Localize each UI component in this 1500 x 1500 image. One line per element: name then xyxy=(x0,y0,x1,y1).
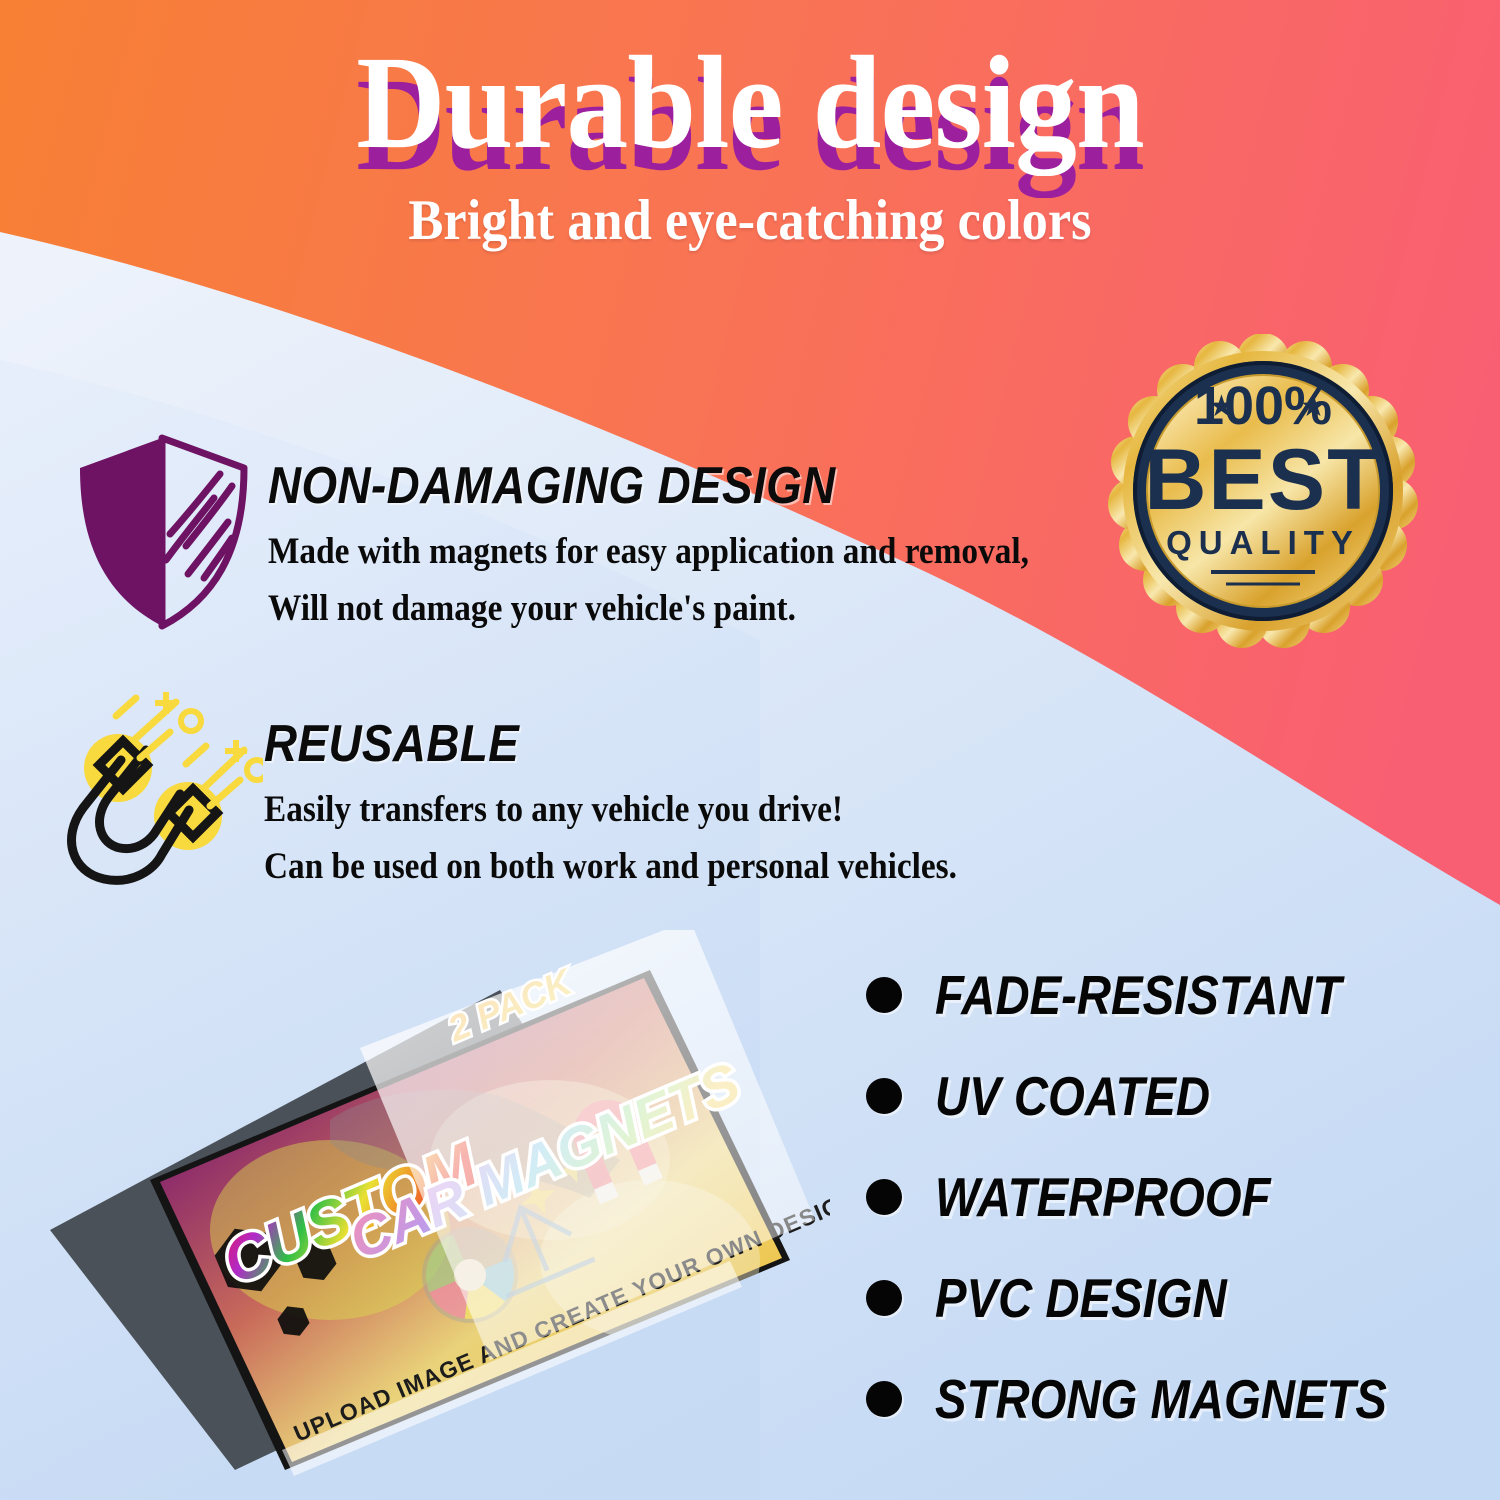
header: Durable design Durable design Bright and… xyxy=(0,0,1500,300)
feature-reusable: REUSABLE Easily transfers to any vehicle… xyxy=(58,686,1034,891)
list-item: PVC DESIGN xyxy=(866,1247,1461,1348)
bullet-dot-icon xyxy=(866,1078,902,1114)
badge-star-right: ★ xyxy=(1300,390,1327,423)
bullet-label: STRONG MAGNETS xyxy=(935,1367,1387,1431)
feature-line: Will not damage your vehicle's paint. xyxy=(268,587,1029,630)
feature-title: NON-DAMAGING DESIGN xyxy=(268,456,1012,516)
bullet-label: PVC DESIGN xyxy=(935,1266,1227,1330)
feature-bullet-list: FADE-RESISTANT UV COATED WATERPROOF PVC … xyxy=(866,944,1461,1449)
shield-icon xyxy=(62,428,268,643)
bullet-label: UV COATED xyxy=(935,1064,1210,1128)
feature-line: Made with magnets for easy application a… xyxy=(268,530,1029,573)
list-item: STRONG MAGNETS xyxy=(866,1348,1461,1449)
best-quality-badge: ★ 100% ★ BEST QUALITY xyxy=(1098,334,1428,664)
page-title-text: Durable design xyxy=(53,36,1448,169)
bullet-dot-icon xyxy=(866,1179,902,1215)
badge-headline: BEST xyxy=(1144,432,1381,528)
badge-subline: QUALITY xyxy=(1166,524,1360,561)
bullet-label: WATERPROOF xyxy=(935,1165,1270,1229)
feature-line: Easily transfers to any vehicle you driv… xyxy=(264,788,957,831)
feature-text: NON-DAMAGING DESIGN Made with magnets fo… xyxy=(268,428,1114,630)
product-photo: CUSTOM CAR MAGNETS 2 PACK UPLOAD IMAGE A… xyxy=(30,930,830,1490)
list-item: FADE-RESISTANT xyxy=(866,944,1461,1045)
list-item: WATERPROOF xyxy=(866,1146,1461,1247)
list-item: UV COATED xyxy=(866,1045,1461,1146)
bullet-dot-icon xyxy=(866,1280,902,1316)
magnet-icon xyxy=(58,686,264,891)
page-subtitle: Bright and eye-catching colors xyxy=(60,188,1440,253)
bullet-label: FADE-RESISTANT xyxy=(935,963,1341,1027)
bullet-dot-icon xyxy=(866,1381,902,1417)
feature-text: REUSABLE Easily transfers to any vehicle… xyxy=(264,686,1034,888)
feature-title: REUSABLE xyxy=(264,714,942,774)
feature-line: Can be used on both work and personal ve… xyxy=(264,845,957,888)
page-title: Durable design Durable design xyxy=(0,18,1500,178)
bullet-dot-icon xyxy=(866,977,902,1013)
feature-non-damaging-design: NON-DAMAGING DESIGN Made with magnets fo… xyxy=(62,428,1114,643)
